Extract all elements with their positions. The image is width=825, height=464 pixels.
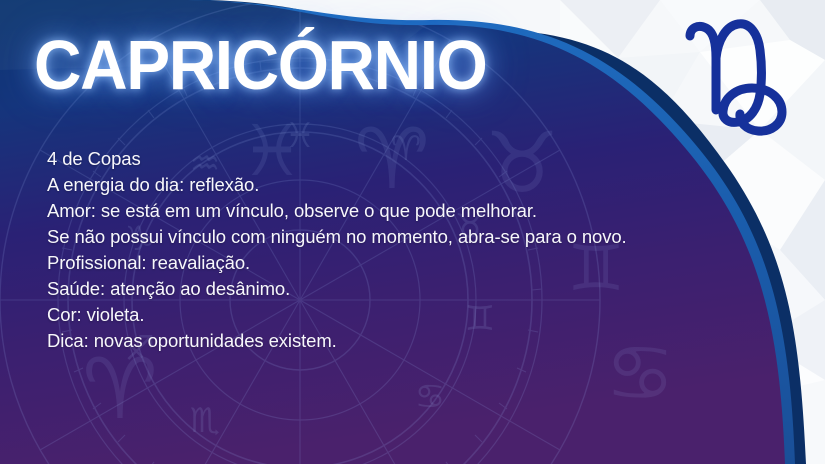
svg-text:♈: ♈ xyxy=(82,340,157,438)
svg-text:♋: ♋ xyxy=(415,377,445,417)
forecast-line: Se não possui vínculo com ninguém no mom… xyxy=(47,224,667,250)
forecast-line: Saúde: atenção ao desânimo. xyxy=(47,276,667,302)
forecast-line: Amor: se está em um vínculo, observe o q… xyxy=(47,198,667,224)
forecast-line: Dica: novas oportunidades existem. xyxy=(47,328,667,354)
forecast-line: A energia do dia: reflexão. xyxy=(47,172,667,198)
forecast-line: 4 de Copas xyxy=(47,146,667,172)
forecast-line: Profissional: reavaliação. xyxy=(47,250,667,276)
horoscope-card: ♈ ♓ ♒ ♑ ♐ ♏ ♉ ♊ ♋ ♈ ♉ ♓ ♈ ♋ ♊ CAPRICÓRNI… xyxy=(0,0,825,464)
forecast-text-block: 4 de Copas A energia do dia: reflexão. A… xyxy=(47,146,667,354)
capricorn-glyph-icon xyxy=(676,14,806,136)
sign-title: CAPRICÓRNIO xyxy=(34,28,486,102)
svg-text:♏: ♏ xyxy=(190,401,220,441)
forecast-line: Cor: violeta. xyxy=(47,302,667,328)
